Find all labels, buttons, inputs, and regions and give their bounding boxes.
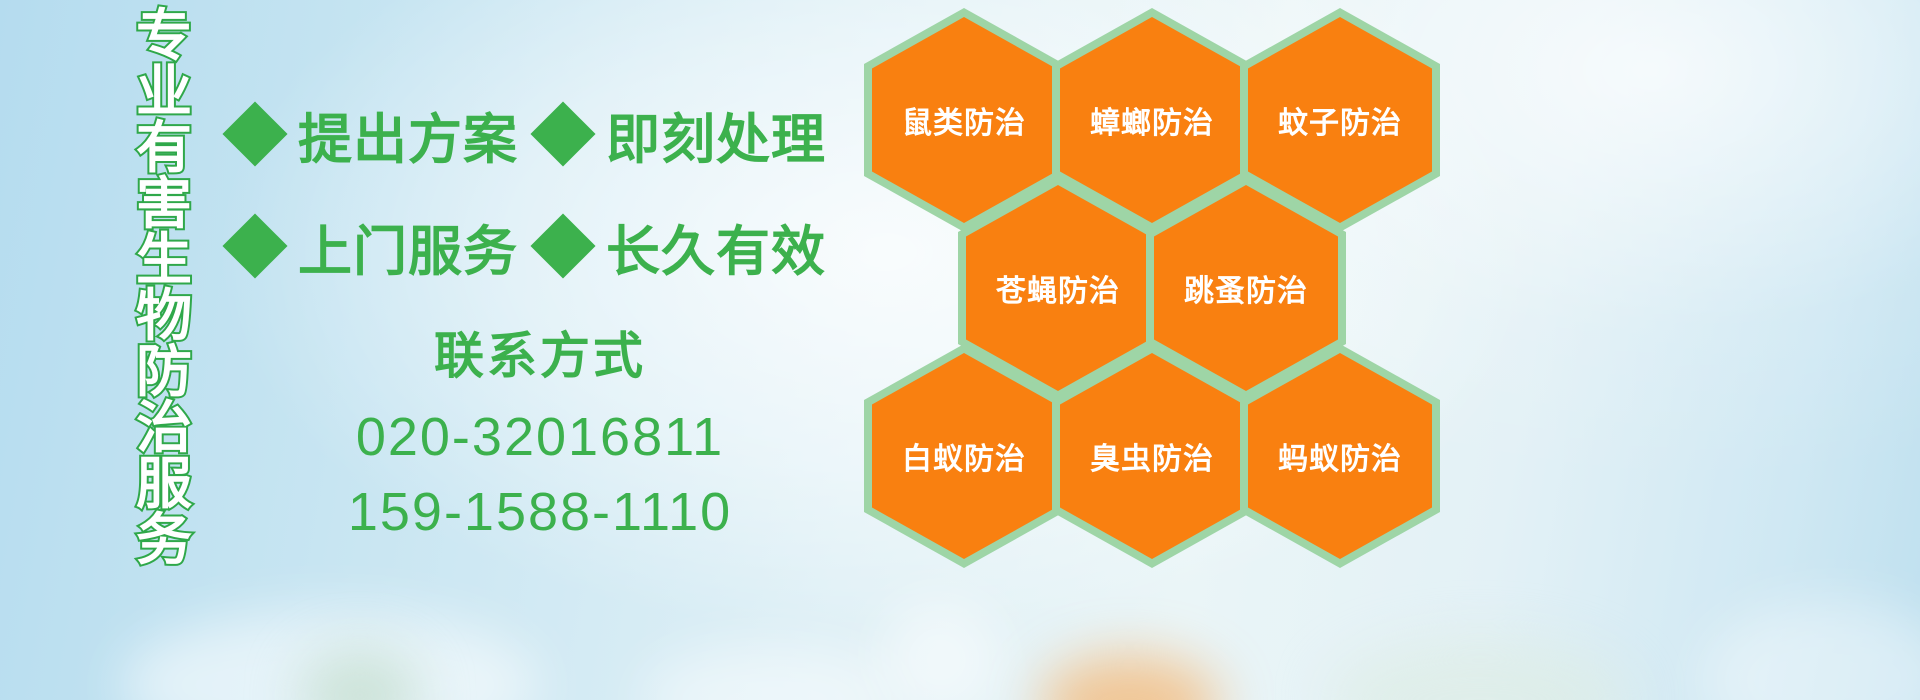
background-blur-blob	[1330, 640, 1630, 700]
background-blur-blob	[1040, 655, 1220, 700]
contact-phone-mobile[interactable]: 159-1588-1110	[260, 475, 820, 550]
headline-char: 防	[136, 344, 192, 400]
hex-inner: 臭虫防治	[1060, 353, 1244, 559]
service-label: 白蚁防治	[902, 434, 1026, 478]
feature-item: 提出方案	[232, 95, 518, 174]
feature-item: 长久有效	[540, 207, 826, 286]
feature-row: 提出方案 即刻处理	[232, 78, 862, 190]
diamond-icon	[222, 101, 287, 166]
service-label: 蚊子防治	[1278, 98, 1402, 142]
feature-label: 提出方案	[298, 95, 518, 174]
background-blur-blob	[300, 650, 420, 700]
diamond-icon	[530, 213, 595, 278]
headline-char: 业	[136, 64, 192, 120]
hex-inner: 蚂蚁防治	[1248, 353, 1432, 559]
contact-block: 联系方式 020-32016811 159-1588-1110	[260, 316, 820, 549]
headline-char: 害	[136, 176, 192, 232]
background-blur-blob	[1700, 600, 1920, 700]
hex-inner: 蚊子防治	[1248, 17, 1432, 223]
hex-inner: 鼠类防治	[872, 17, 1056, 223]
headline-char: 生	[136, 232, 192, 288]
diamond-icon	[222, 213, 287, 278]
feature-label: 上门服务	[298, 207, 518, 286]
feature-row: 上门服务 长久有效	[232, 190, 862, 302]
pest-control-banner: 专 业 有 害 生 物 防 治 服 务 提出方案 即刻处理 上门服务	[0, 0, 1920, 700]
background-blur-blob	[120, 610, 540, 700]
hex-inner: 白蚁防治	[872, 353, 1056, 559]
headline-char: 服	[136, 456, 192, 512]
hex-inner: 跳蚤防治	[1154, 185, 1338, 391]
hex-inner: 蟑螂防治	[1060, 17, 1244, 223]
feature-list: 提出方案 即刻处理 上门服务 长久有效	[232, 78, 862, 302]
feature-label: 即刻处理	[606, 95, 826, 174]
vertical-headline: 专 业 有 害 生 物 防 治 服 务	[112, 8, 216, 564]
service-honeycomb: 鼠类防治 蟑螂防治 蚊子防治 苍蝇防治 跳蚤防治 白蚁防治	[862, 0, 1442, 560]
hex-inner: 苍蝇防治	[966, 185, 1150, 391]
background-blur-blob	[880, 600, 1000, 700]
contact-phone-landline[interactable]: 020-32016811	[260, 400, 820, 475]
headline-char: 专	[136, 8, 192, 64]
service-label: 苍蝇防治	[996, 266, 1120, 310]
headline-char: 务	[136, 512, 192, 568]
contact-title: 联系方式	[260, 316, 820, 388]
diamond-icon	[530, 101, 595, 166]
service-label: 蚂蚁防治	[1278, 434, 1402, 478]
service-label: 臭虫防治	[1090, 434, 1214, 478]
headline-char: 物	[136, 288, 192, 344]
service-label: 鼠类防治	[902, 98, 1026, 142]
headline-char: 治	[136, 400, 192, 456]
feature-item: 上门服务	[232, 207, 518, 286]
feature-label: 长久有效	[606, 207, 826, 286]
background-blur-blob	[640, 645, 900, 700]
service-label: 跳蚤防治	[1184, 266, 1308, 310]
feature-item: 即刻处理	[540, 95, 826, 174]
service-label: 蟑螂防治	[1090, 98, 1214, 142]
headline-char: 有	[136, 120, 192, 176]
